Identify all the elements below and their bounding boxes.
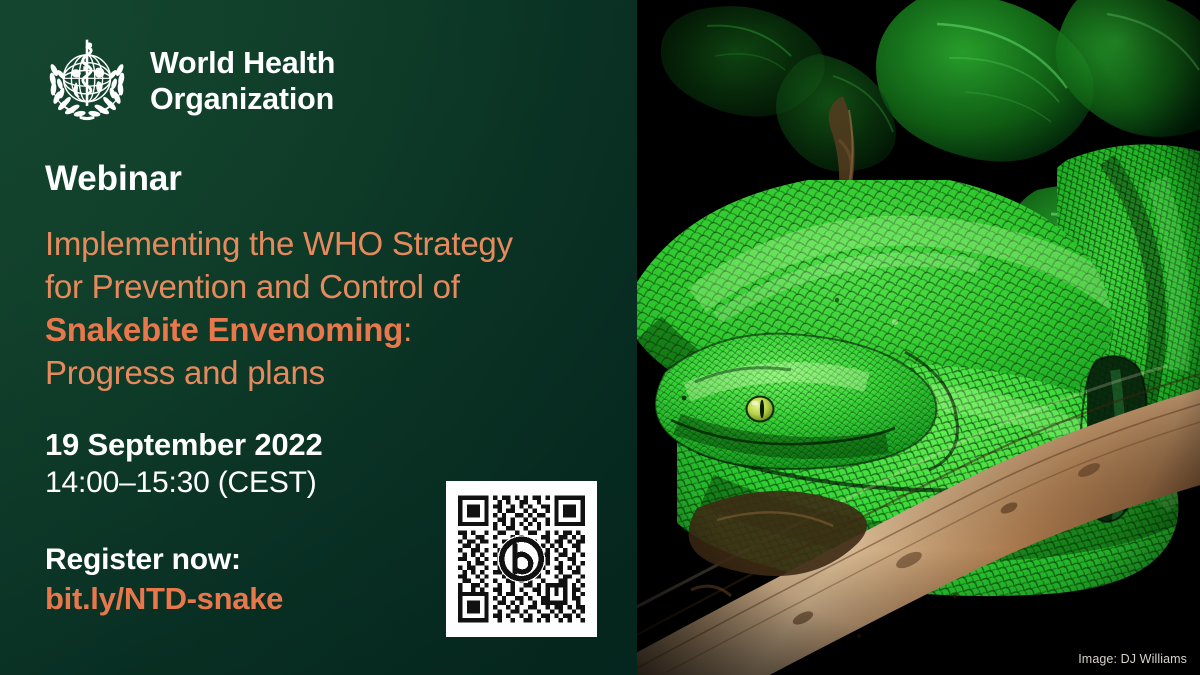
registration-block: Register now: bit.ly/NTD-snake xyxy=(45,540,283,619)
register-url-link[interactable]: bit.ly/NTD-snake xyxy=(45,579,283,619)
headline-emphasis: Snakebite Envenoming xyxy=(45,311,403,348)
who-emblem-icon xyxy=(41,36,133,128)
event-date: 19 September 2022 xyxy=(45,426,323,464)
bitly-b-logo xyxy=(498,535,545,582)
snake-photograph: Image: DJ Williams xyxy=(637,0,1200,675)
who-wordmark: World Health Organization xyxy=(150,46,335,118)
image-credit: Image: DJ Williams xyxy=(1078,652,1187,666)
event-time: 14:00–15:30 (CEST) xyxy=(45,464,323,502)
schedule-block: 19 September 2022 14:00–15:30 (CEST) xyxy=(45,426,323,502)
headline-line-4: Progress and plans xyxy=(45,354,325,391)
event-type-kicker: Webinar xyxy=(45,159,182,199)
headline-line-2: for Prevention and Control of xyxy=(45,268,460,305)
registration-qr-code[interactable] xyxy=(446,481,597,637)
who-logo-lockup: World Health Organization xyxy=(41,36,335,128)
webinar-promo-poster: World Health Organization Webinar Implem… xyxy=(0,0,1200,675)
page-title: Implementing the WHO Strategy for Preven… xyxy=(45,222,605,394)
register-label: Register now: xyxy=(45,540,283,579)
headline-line-1: Implementing the WHO Strategy xyxy=(45,225,513,262)
headline-colon: : xyxy=(403,311,412,348)
left-info-panel: World Health Organization Webinar Implem… xyxy=(0,0,637,675)
